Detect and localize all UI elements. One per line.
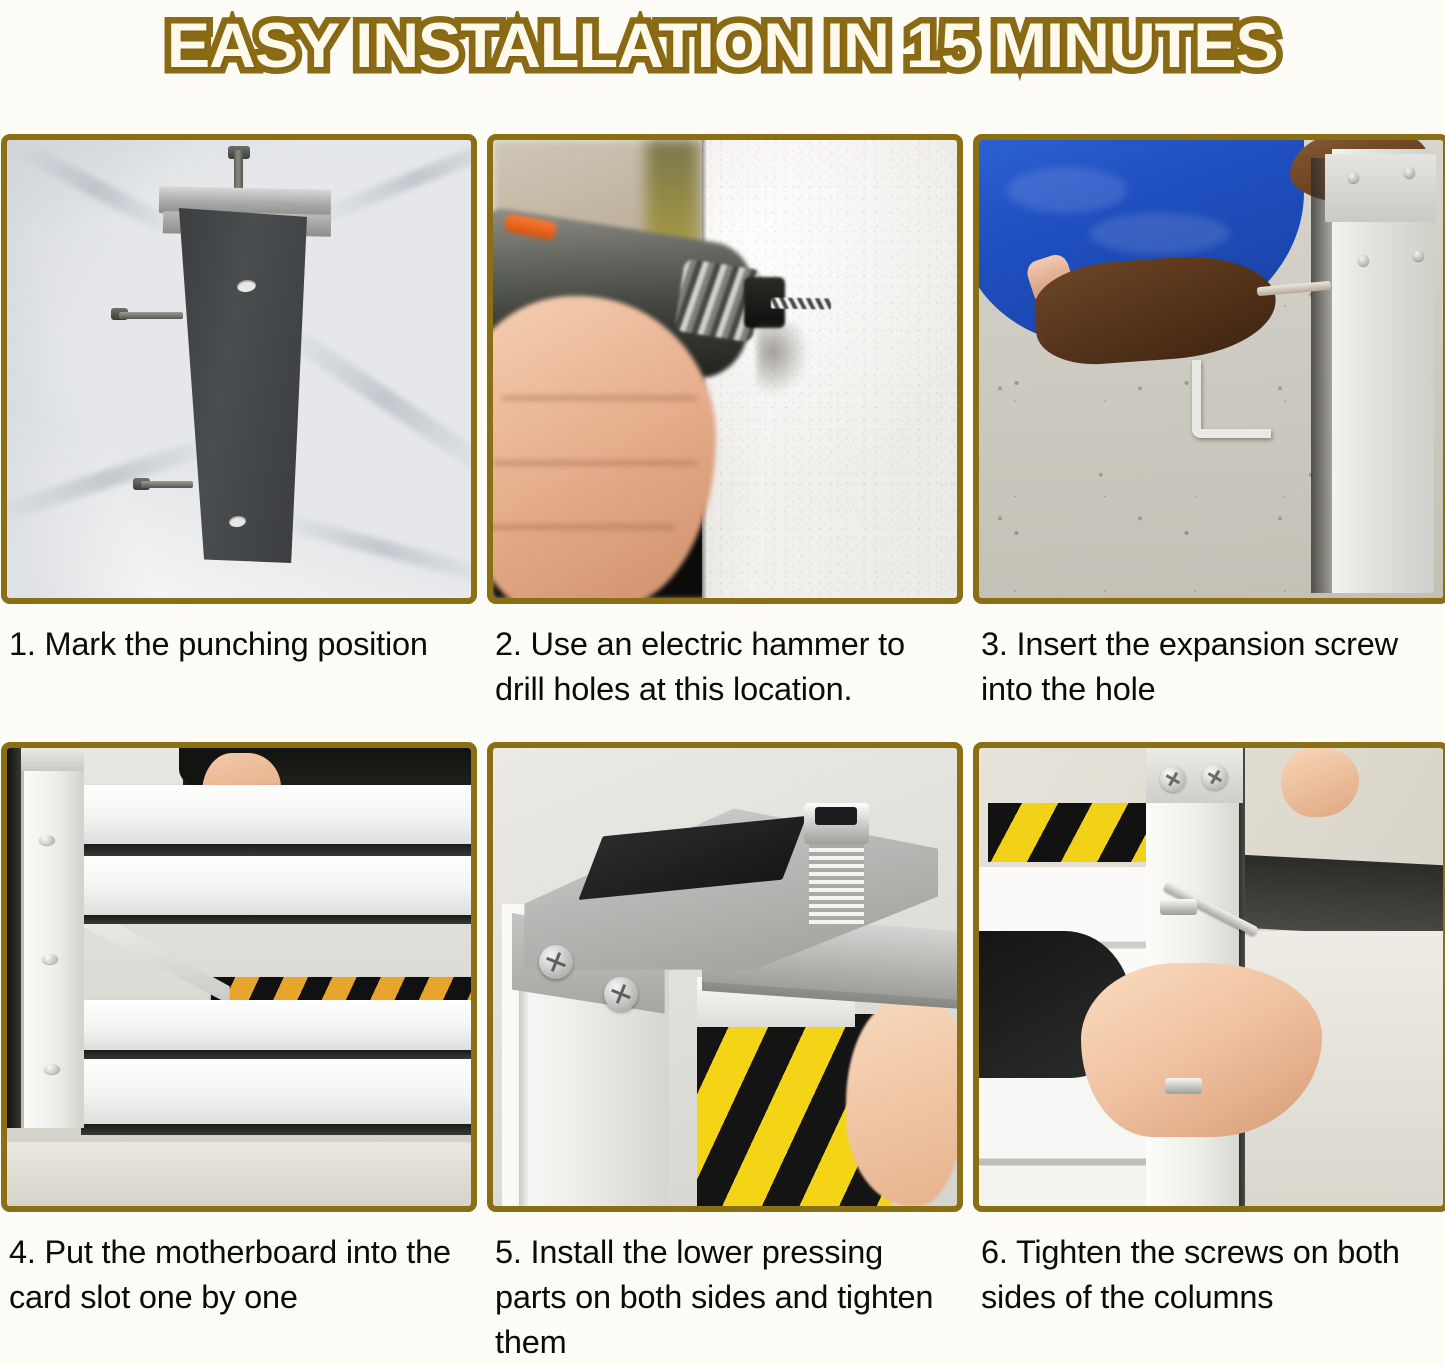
step-photo-frame-5 <box>487 742 963 1212</box>
step-photo-frame-4 <box>1 742 477 1212</box>
column-top-bracket <box>21 748 84 771</box>
step-card-2: 2. Use an electric hammer to drill holes… <box>487 134 963 712</box>
step-photo-frame-3 <box>973 134 1445 604</box>
hazard-stripe-panel <box>988 803 1150 863</box>
post-shadow-side <box>1311 158 1332 593</box>
steps-grid: 1. Mark the punching position <box>0 92 1445 1365</box>
board-gap <box>81 844 471 855</box>
step-photo-frame-2 <box>487 134 963 604</box>
step-photo-4 <box>7 748 471 1206</box>
finger-crease <box>493 461 697 465</box>
lower-column-bolt <box>1165 1078 1202 1094</box>
barrier-board <box>81 785 471 845</box>
step-card-6: 6. Tighten the screws on both sides of t… <box>973 742 1445 1365</box>
top-bolt-shaft <box>234 150 243 192</box>
step-photo-1 <box>7 140 471 598</box>
step-card-4: 4. Put the motherboard into the card slo… <box>1 742 477 1365</box>
board-gap <box>81 1124 471 1135</box>
barrier-board <box>81 1000 471 1050</box>
step-caption-2: 2. Use an electric hammer to drill holes… <box>487 622 963 712</box>
shirt-fold <box>1090 213 1229 254</box>
drill-dust <box>757 323 808 396</box>
steps-row-top: 1. Mark the punching position <box>0 134 1445 712</box>
banner: EASY INSTALLATION IN 15 MINUTES <box>0 0 1445 92</box>
steps-row-bottom: 4. Put the motherboard into the card slo… <box>0 742 1445 1365</box>
step-photo-frame-1 <box>1 134 477 604</box>
step-caption-5: 5. Install the lower pressing parts on b… <box>487 1230 963 1365</box>
barrier-board <box>81 1059 471 1123</box>
step-photo-6 <box>979 748 1443 1206</box>
finger-crease <box>493 525 674 529</box>
page-title: EASY INSTALLATION IN 15 MINUTES <box>167 11 1278 81</box>
screw-shaft-lower <box>141 481 193 488</box>
screw-shaft-upper <box>119 312 183 319</box>
step-photo-2 <box>493 140 957 598</box>
step-caption-4: 4. Put the motherboard into the card slo… <box>1 1230 477 1320</box>
step-caption-6: 6. Tighten the screws on both sides of t… <box>973 1230 1445 1320</box>
allen-key <box>1192 360 1271 438</box>
step-caption-1: 1. Mark the punching position <box>1 622 477 667</box>
post-top-bracket <box>1325 154 1436 223</box>
barrier-board <box>81 856 471 916</box>
drill-bit <box>771 297 831 309</box>
board-gap <box>81 1050 471 1059</box>
worker-finger <box>846 1000 957 1206</box>
step-card-5: 5. Install the lower pressing parts on b… <box>487 742 963 1365</box>
step-photo-5 <box>493 748 957 1206</box>
hex-bolt-socket <box>815 807 857 825</box>
column-screw <box>42 954 58 964</box>
column-dark-edge <box>7 748 22 1128</box>
wall-surface <box>702 140 957 598</box>
step-card-1: 1. Mark the punching position <box>1 134 477 712</box>
step-caption-3: 3. Insert the expansion screw into the h… <box>973 622 1445 712</box>
wrench-head <box>1160 899 1197 915</box>
step-photo-frame-6 <box>973 742 1445 1212</box>
column-screw <box>1202 764 1228 790</box>
finger-crease <box>502 396 697 400</box>
post-screw <box>1358 255 1369 266</box>
installation-guide-page: EASY INSTALLATION IN 15 MINUTES <box>0 0 1445 1352</box>
floor-surface <box>7 1142 471 1206</box>
board-gap <box>81 915 471 924</box>
step-photo-3 <box>979 140 1443 598</box>
step-card-3: 3. Insert the expansion screw into the h… <box>973 134 1445 712</box>
